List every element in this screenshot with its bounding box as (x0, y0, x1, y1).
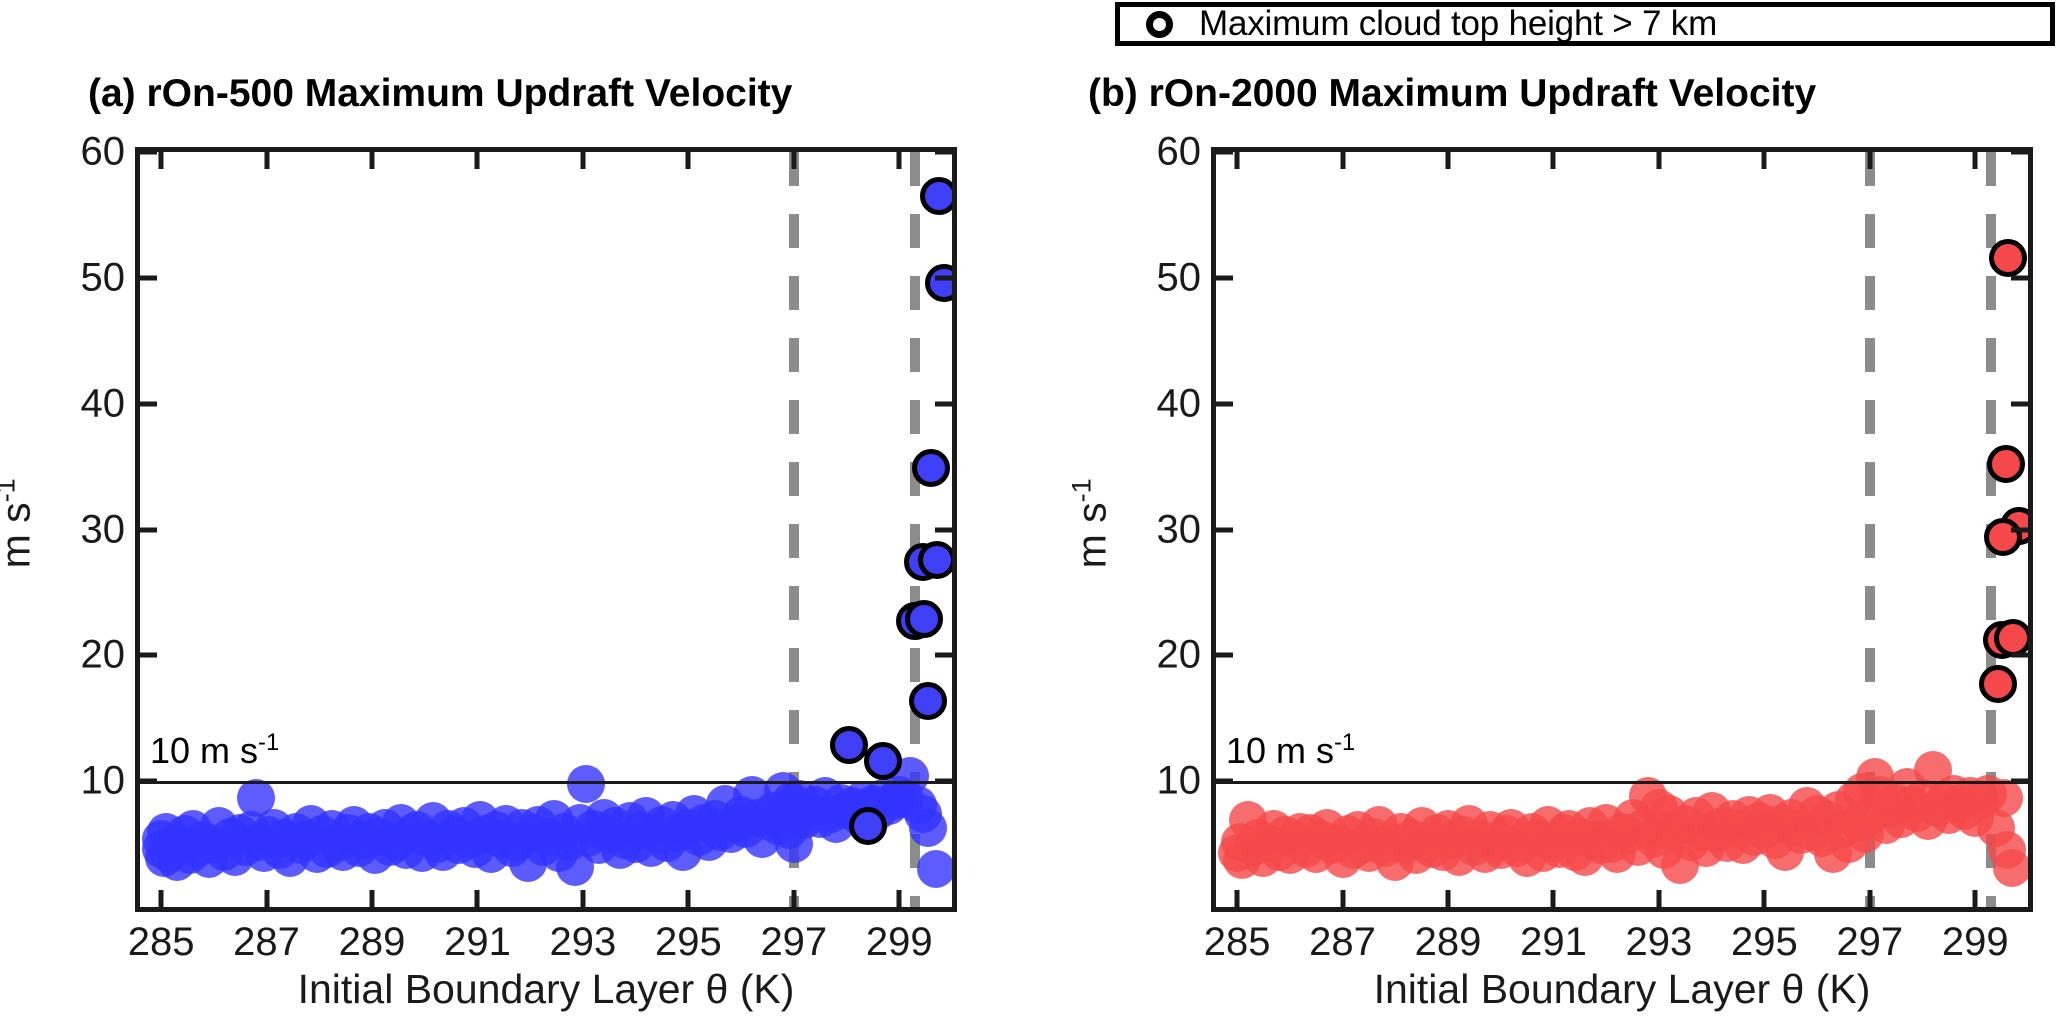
data-point-high-cloud-top (1984, 518, 2022, 556)
panel-a-ylabel: m s-1 (0, 413, 39, 633)
y-tick-right (935, 653, 952, 658)
panel-b-title: (b) rOn-2000 Maximum Updraft Velocity (1088, 72, 1816, 116)
y-tick-label: 10 (43, 759, 125, 804)
x-tick (1762, 890, 1767, 907)
x-tick-top (1551, 152, 1556, 169)
y-tick-label: 60 (43, 130, 125, 175)
x-tick (264, 890, 269, 907)
data-point-high-cloud-top (849, 807, 887, 845)
y-tick-right (2011, 275, 2028, 280)
data-point-high-cloud-top (920, 177, 952, 215)
data-point-high-cloud-top (909, 682, 947, 720)
y-tick-label: 40 (43, 381, 125, 426)
data-point (1993, 849, 2028, 887)
x-tick (791, 890, 796, 907)
x-tick-top (475, 152, 480, 169)
data-point (909, 809, 947, 847)
x-tick-top (580, 152, 585, 169)
y-tick-label: 30 (43, 507, 125, 552)
x-tick (897, 890, 902, 907)
x-tick-top (791, 152, 796, 169)
data-point-high-cloud-top (905, 600, 943, 638)
y-tick (1216, 152, 1233, 155)
x-tick-top (264, 152, 269, 169)
x-tick-top (159, 152, 164, 169)
y-tick-label: 30 (1119, 507, 1201, 552)
x-tick-label: 299 (1942, 920, 2009, 965)
data-point-high-cloud-top (925, 264, 952, 302)
threshold-line (1216, 781, 2028, 784)
x-tick-label: 293 (1626, 920, 1693, 965)
data-point-high-cloud-top (918, 541, 952, 579)
threshold-annotation: 10 m s-1 (150, 729, 279, 772)
x-tick (1867, 890, 1872, 907)
x-tick-label: 297 (760, 920, 827, 965)
panel-a-plot-area: 10 m s-1 (140, 152, 952, 907)
y-tick-label: 60 (1119, 130, 1201, 175)
x-tick-label: 285 (1204, 920, 1271, 965)
x-tick-label: 295 (1731, 920, 1798, 965)
x-tick (159, 890, 164, 907)
data-point-high-cloud-top (830, 726, 868, 764)
data-point-high-cloud-top (1989, 239, 2027, 277)
x-tick-label: 295 (655, 920, 722, 965)
x-tick-top (1340, 152, 1345, 169)
y-tick (140, 275, 157, 280)
x-tick-label: 287 (233, 920, 300, 965)
x-tick-label: 289 (1415, 920, 1482, 965)
x-tick-label: 299 (866, 920, 933, 965)
x-tick-top (1867, 152, 1872, 169)
x-tick (1551, 890, 1556, 907)
panel-b-plot-area: 10 m s-1 (1216, 152, 2028, 907)
y-tick-right (2011, 152, 2028, 155)
y-tick-label: 20 (43, 633, 125, 678)
x-tick-label: 289 (339, 920, 406, 965)
y-tick (140, 779, 157, 784)
y-tick (1216, 401, 1233, 406)
x-tick-label: 293 (550, 920, 617, 965)
threshold-line (140, 781, 952, 784)
y-tick-right (935, 152, 952, 155)
y-tick (1216, 275, 1233, 280)
data-point-high-cloud-top (1994, 619, 2028, 657)
x-tick-top (1656, 152, 1661, 169)
y-tick-right (935, 779, 952, 784)
panel-b-xlabel: Initial Boundary Layer θ (K) (1211, 966, 2033, 1013)
panel-b-ylabel: m s-1 (1067, 413, 1116, 633)
y-tick (1216, 527, 1233, 532)
y-tick (140, 152, 157, 155)
data-point-high-cloud-top (912, 449, 950, 487)
x-tick-top (1446, 152, 1451, 169)
y-tick (140, 653, 157, 658)
x-tick (370, 890, 375, 907)
y-tick-right (935, 401, 952, 406)
x-tick (1235, 890, 1240, 907)
y-tick (140, 527, 157, 532)
x-tick (475, 890, 480, 907)
x-tick-top (1235, 152, 1240, 169)
x-tick-label: 291 (444, 920, 511, 965)
panel-b: (b) rOn-2000 Maximum Updraft Velocity 10… (1034, 0, 2067, 1016)
figure-root: Maximum cloud top height > 7 km (a) rOn-… (0, 0, 2067, 1016)
x-tick (580, 890, 585, 907)
y-tick-right (2011, 527, 2028, 532)
data-point-high-cloud-top (1979, 665, 2017, 703)
y-tick-label: 50 (43, 255, 125, 300)
x-tick-label: 287 (1309, 920, 1376, 965)
x-tick (686, 890, 691, 907)
x-tick-label: 291 (1520, 920, 1587, 965)
panel-b-plot-frame: 10 m s-1 (1211, 147, 2033, 912)
threshold-annotation: 10 m s-1 (1226, 729, 1355, 772)
data-point (1985, 779, 2023, 817)
data-point (917, 850, 952, 888)
x-tick (1656, 890, 1661, 907)
y-tick-right (935, 527, 952, 532)
panel-a-title: (a) rOn-500 Maximum Updraft Velocity (88, 72, 792, 116)
panel-a: (a) rOn-500 Maximum Updraft Velocity 10 … (0, 0, 1033, 1016)
y-tick-right (2011, 401, 2028, 406)
y-tick-label: 20 (1119, 633, 1201, 678)
y-tick-label: 10 (1119, 759, 1201, 804)
y-tick (140, 401, 157, 406)
x-tick-top (1973, 152, 1978, 169)
x-tick (1973, 890, 1978, 907)
x-tick-top (897, 152, 902, 169)
y-tick-right (935, 275, 952, 280)
panel-a-xlabel: Initial Boundary Layer θ (K) (135, 966, 957, 1013)
y-tick-label: 40 (1119, 381, 1201, 426)
x-tick (1446, 890, 1451, 907)
y-tick-right (2011, 653, 2028, 658)
y-tick (1216, 653, 1233, 658)
panel-a-plot-frame: 10 m s-1 (135, 147, 957, 912)
y-tick-label: 50 (1119, 255, 1201, 300)
data-point-high-cloud-top (1987, 445, 2025, 483)
y-tick-right (2011, 779, 2028, 784)
y-tick (1216, 779, 1233, 784)
x-tick (1340, 890, 1345, 907)
x-tick-top (1762, 152, 1767, 169)
x-tick-label: 297 (1836, 920, 1903, 965)
data-point-high-cloud-top (864, 742, 902, 780)
x-tick-label: 285 (128, 920, 195, 965)
x-tick-top (370, 152, 375, 169)
x-tick-top (686, 152, 691, 169)
